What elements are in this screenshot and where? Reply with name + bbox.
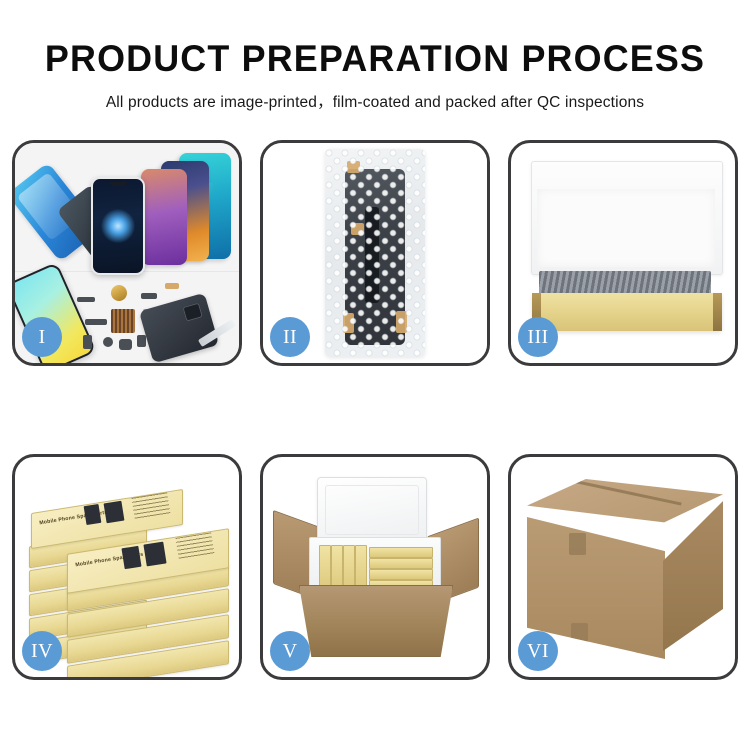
copper-tape-icon [165,283,179,289]
page-subtitle: All products are image-printed，film-coat… [0,77,750,112]
packed-yellow-box-icon [369,547,433,558]
button-part-icon [103,337,113,347]
packed-yellow-box-icon [331,545,343,591]
carton-tape-icon [569,533,586,555]
step-badge-2: II [270,317,310,357]
styrofoam-lid-icon [317,477,427,543]
step-badge-4: IV [22,631,62,671]
box-artwork-screen-icon [104,501,125,524]
product-preparation-infographic: PRODUCT PREPARATION PROCESS All products… [0,0,750,750]
bubble-wrap-pouch-icon [325,149,425,357]
step-badge-3: III [518,317,558,357]
carton-body-icon [299,585,453,657]
box-artwork-screen-icon [84,504,102,525]
carton-side-face-icon [663,501,723,651]
flex-strip-icon [85,319,107,325]
speaker-part-icon [111,285,127,301]
purple-phone-display-icon [141,169,187,265]
component-bar-icon [77,297,95,302]
process-step-panel-6[interactable]: VI [508,454,738,680]
packed-yellow-box-icon [343,545,355,591]
step-badge-6: VI [518,631,558,671]
process-step-panel-5[interactable]: V [260,454,490,680]
process-steps-grid: I II [12,140,738,680]
carton-tape-icon [571,623,588,645]
packed-yellow-box-icon [369,558,433,569]
circuit-board-icon [111,309,135,333]
box-artwork-screen-icon [121,546,141,569]
small-chip-icon [83,335,92,349]
step-badge-1: I [22,317,62,357]
front-glass-panel-icon [91,177,145,275]
yellow-box-base-icon [532,293,722,331]
packed-yellow-box-icon [319,545,331,591]
white-foam-sheet-icon [537,189,715,267]
page-title: PRODUCT PREPARATION PROCESS [11,0,739,77]
process-step-panel-3[interactable]: III [508,140,738,366]
process-step-panel-2[interactable]: II [260,140,490,366]
box-artwork-screen-icon [143,542,166,567]
camera-part-icon [119,339,132,350]
header: PRODUCT PREPARATION PROCESS All products… [0,0,750,112]
bubble-texture-icon [325,149,425,357]
connector-part-icon [141,293,157,299]
packed-yellow-box-icon [355,545,367,591]
carton-seam-icon [534,471,681,505]
packed-yellow-box-icon [369,569,433,580]
sim-tray-icon [137,335,146,347]
process-step-panel-1[interactable]: I [12,140,242,366]
step-badge-5: V [270,631,310,671]
box-stack-icon: Mobile Phone Spare Parts Mobile Phone Sp… [29,479,227,667]
process-step-panel-4[interactable]: Mobile Phone Spare Parts Mobile Phone Sp… [12,454,242,680]
sealed-carton-icon [527,479,723,659]
